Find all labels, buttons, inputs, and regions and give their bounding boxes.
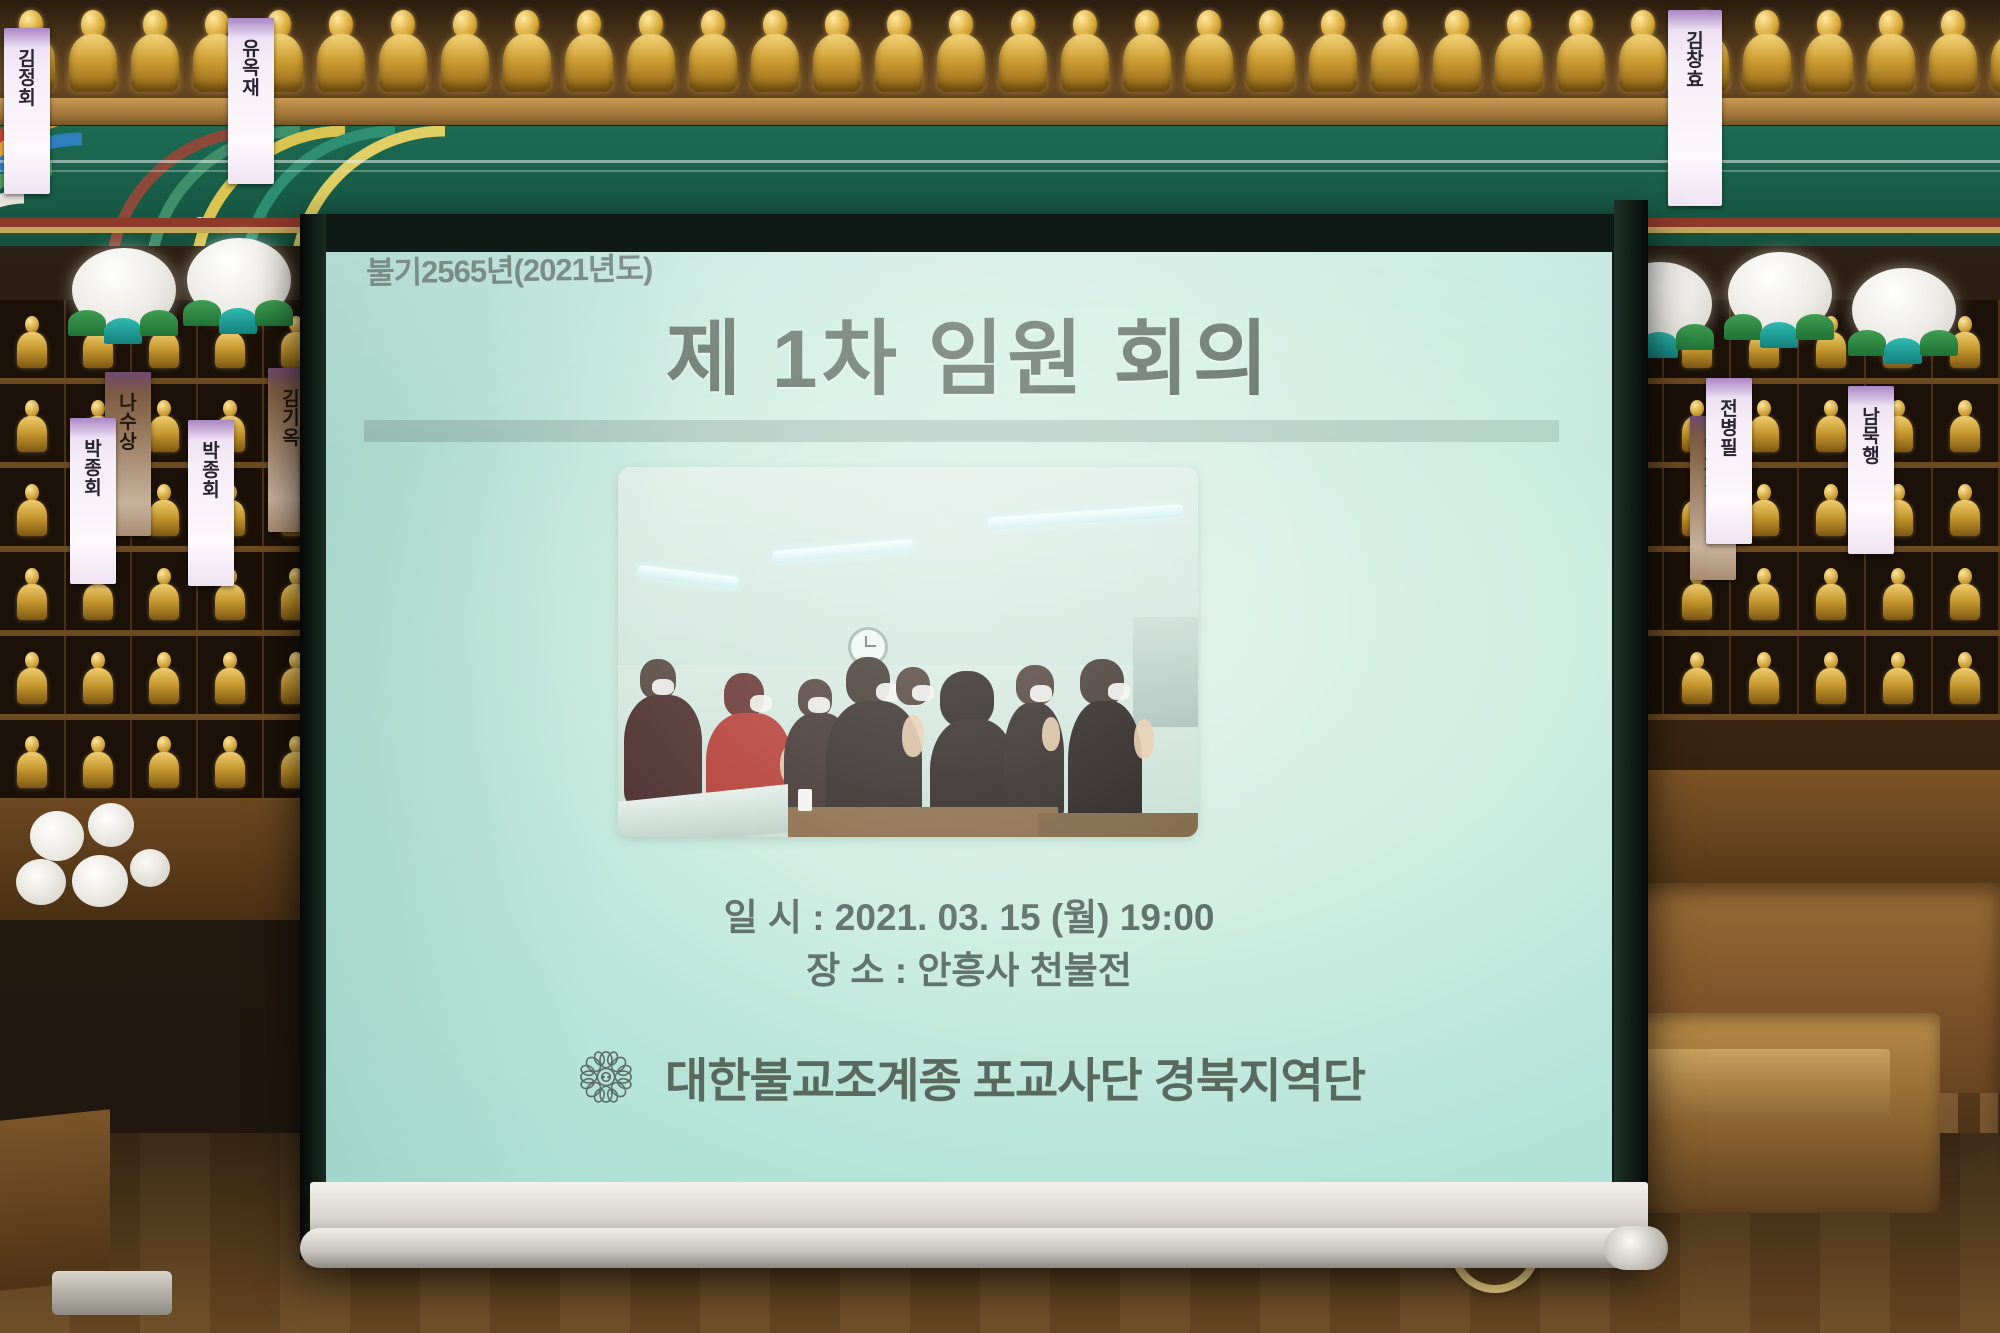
buddha-statue (682, 0, 744, 110)
lotus-lantern (1840, 268, 1968, 386)
buddha-statue (558, 0, 620, 110)
screen-roller-knob[interactable] (1604, 1226, 1668, 1270)
buddha-statue (992, 0, 1054, 110)
temple-hall-photo: 김정회 유옥재 나수상 박종회 박종회 김기옥 정용우 김창효 박상식 박재진 … (0, 0, 2000, 1333)
screen-edge-left (300, 214, 326, 1260)
lotus-lantern (175, 238, 303, 356)
name-tag: 전병필 (1706, 378, 1752, 544)
buddha-statue (1054, 0, 1116, 110)
name-tag: 김창효 (1668, 10, 1722, 206)
buddha-statue (1488, 0, 1550, 110)
buddha-statue (620, 0, 682, 110)
slide-title: 제 1차 임원 회의 (326, 292, 1612, 411)
buddha-statue (806, 0, 868, 110)
organization-name: 대한불교조계종 포교사단 경북지역단 (665, 1042, 1365, 1111)
buddha-statue (1364, 0, 1426, 110)
meeting-photo (618, 467, 1198, 837)
buddha-statue (744, 0, 806, 110)
organization-row: 대한불교조계종 포교사단 경북지역단 (326, 1042, 1612, 1111)
buddha-statue (372, 0, 434, 110)
name-tag: 김정회 (4, 28, 50, 194)
buddha-statue (930, 0, 992, 110)
meeting-details: 일 시 : 2021. 03. 15 (월) 19:00 장 소 : 안흥사 천… (326, 892, 1612, 997)
name-tag: 박종회 (188, 420, 234, 586)
lotus-lantern (60, 248, 188, 366)
wooden-stand-left (0, 1109, 110, 1291)
jogye-lotus-emblem (573, 1044, 639, 1110)
buddha-statue (1302, 0, 1364, 110)
buddha-statue (1116, 0, 1178, 110)
buddha-statue (1426, 0, 1488, 110)
name-tag: 박종회 (70, 418, 116, 584)
name-tag: 남묵행 (1848, 386, 1894, 554)
buddha-statue (1922, 0, 1984, 110)
slide-preheader: 불기2565년(2021년도) (366, 252, 1067, 292)
screen-roller-bar (300, 1228, 1662, 1268)
buddha-statue (1736, 0, 1798, 110)
name-tag: 유옥재 (228, 18, 274, 184)
buddha-statue (1984, 0, 2000, 110)
buddha-statue (1860, 0, 1922, 110)
buddha-statue (1240, 0, 1302, 110)
lotus-lantern (1716, 252, 1844, 370)
buddha-statue (1612, 0, 1674, 110)
white-chrysanthemum-offering (10, 803, 240, 1003)
buddha-statue (496, 0, 558, 110)
buddha-statue (868, 0, 930, 110)
buddha-statue (1798, 0, 1860, 110)
floor-object-left (52, 1271, 172, 1315)
buddha-statue (434, 0, 496, 110)
title-divider-bar (364, 420, 1559, 442)
buddha-statue (310, 0, 372, 110)
wooden-tray (1610, 1049, 1890, 1119)
buddha-statue (124, 0, 186, 110)
presentation-slide: 불기2565년(2021년도) 제 1차 임원 회의 (326, 252, 1612, 1182)
buddha-statue (1178, 0, 1240, 110)
buddha-statue (1550, 0, 1612, 110)
buddha-statue (62, 0, 124, 110)
screen-edge-right (1614, 200, 1648, 1260)
